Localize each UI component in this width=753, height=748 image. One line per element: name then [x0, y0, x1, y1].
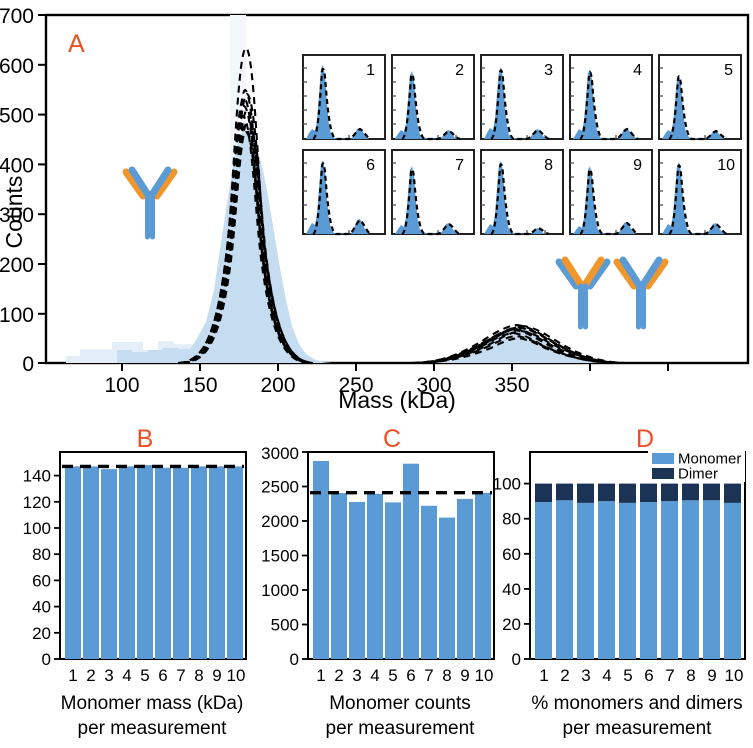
panel-b-xlabel-line2: per measurement [78, 718, 228, 739]
panel-a: A 700 600 500 400 300 200 [0, 5, 748, 413]
panel-d-bar-1-dimer [535, 484, 552, 502]
panel-c-xtick-7: 7 [424, 666, 433, 685]
panel-d-legend: Monomer Dimer [648, 450, 745, 483]
panel-d-bar-8-dimer [682, 484, 699, 501]
panel-a-ytick-100: 100 [0, 304, 34, 327]
panel-b-bar-5 [137, 465, 153, 659]
panel-b-letter: B [137, 425, 154, 453]
panel-a-letter: A [68, 30, 85, 58]
inset-label-9: 9 [633, 157, 642, 174]
panel-b-ytick-120: 120 [23, 493, 51, 512]
panel-c-y-labels: 0 500 1000 1500 2000 2500 3000 [261, 444, 299, 669]
panel-d: D [493, 425, 745, 739]
panel-c-bar-8 [439, 518, 455, 659]
panel-b-xtick-4: 4 [122, 666, 131, 685]
panel-c-x-labels: 1 2 3 4 5 6 7 8 9 10 [316, 666, 493, 685]
panel-c-bar-3 [349, 502, 365, 659]
panel-a-ytick-0: 0 [22, 353, 34, 376]
panel-b-ytick-40: 40 [32, 598, 51, 617]
figure-root: A 700 600 500 400 300 200 [0, 0, 753, 748]
panel-a-xtick-200: 200 [260, 374, 295, 397]
panel-c-xtick-8: 8 [442, 666, 451, 685]
panel-d-bar-1-monomer [535, 502, 552, 659]
panel-d-bar-group-4 [598, 484, 615, 659]
panel-b-xtick-3: 3 [104, 666, 113, 685]
panel-a-x-axis-title: Mass (kDa) [338, 387, 456, 413]
panel-d-bar-6-dimer [640, 484, 657, 502]
panel-d-letter: D [636, 425, 654, 453]
figure-svg: A 700 600 500 400 300 200 [0, 0, 753, 748]
panel-d-ytick-80: 80 [502, 510, 521, 529]
panel-d-xtick-8: 8 [686, 666, 695, 685]
panel-c: C [261, 425, 494, 739]
inset-panel-1: 1 [303, 55, 385, 139]
panel-d-bar-10-monomer [724, 503, 741, 659]
panel-b-xlabel-line1: Monomer mass (kDa) [61, 693, 244, 714]
panel-d-xtick-1: 1 [539, 666, 548, 685]
panel-c-bar-10 [475, 493, 491, 659]
panel-c-xtick-9: 9 [460, 666, 469, 685]
panel-c-bar-1 [313, 461, 329, 659]
panel-b-x-labels: 1 2 3 4 5 6 7 8 9 10 [68, 666, 245, 685]
panel-b-xtick-7: 7 [176, 666, 185, 685]
panel-b-xtick-8: 8 [194, 666, 203, 685]
panel-d-bar-group-8 [682, 484, 699, 659]
panel-d-ytick-20: 20 [502, 615, 521, 634]
panel-d-bar-7-monomer [661, 501, 678, 659]
panel-d-xlabel-line1: % monomers and dimers [531, 693, 742, 714]
panel-d-bar-3-dimer [577, 484, 594, 503]
panel-b-bar-2 [83, 466, 99, 659]
panel-d-xtick-9: 9 [707, 666, 716, 685]
panel-d-ytick-40: 40 [502, 580, 521, 599]
panel-d-bar-group-5 [619, 484, 636, 659]
panel-d-xtick-7: 7 [665, 666, 674, 685]
panel-d-bar-group-3 [577, 484, 594, 659]
inset-panel-5: 5 [659, 55, 741, 139]
panel-a-xtick-350: 350 [494, 374, 529, 397]
panel-c-xtick-10: 10 [475, 666, 494, 685]
legend-swatch-dimer [652, 468, 674, 479]
panel-a-ytick-400: 400 [0, 154, 34, 177]
panel-d-xtick-10: 10 [725, 666, 744, 685]
panel-d-xtick-3: 3 [581, 666, 590, 685]
panel-b: B [23, 425, 246, 739]
inset-panel-6: 6 [303, 150, 385, 234]
panel-a-ytick-200: 200 [0, 254, 34, 277]
panel-c-ytick-0: 0 [290, 650, 299, 669]
panel-a-y-axis-title: Counts [1, 176, 27, 249]
panel-d-bar-4-dimer [598, 484, 615, 502]
panel-d-ytick-0: 0 [512, 650, 521, 669]
inset-label-1: 1 [366, 62, 375, 79]
panel-b-bar-9 [209, 466, 225, 659]
inset-panel-3: 3 [481, 55, 563, 139]
panel-c-bar-7 [421, 506, 437, 659]
panel-b-ytick-80: 80 [32, 545, 51, 564]
inset-label-8: 8 [544, 157, 553, 174]
panel-b-bar-7 [173, 468, 189, 659]
panel-d-xtick-5: 5 [623, 666, 632, 685]
panel-c-ytick-3000: 3000 [261, 444, 299, 463]
panel-a-xtick-100: 100 [104, 374, 139, 397]
panel-b-xtick-2: 2 [86, 666, 95, 685]
panel-b-bar-1 [65, 466, 81, 659]
panel-b-bar-4 [119, 466, 135, 659]
panel-b-y-labels: 0 20 40 60 80 100 120 140 [23, 467, 51, 669]
panel-b-ytick-60: 60 [32, 571, 51, 590]
panel-c-ytick-1500: 1500 [261, 547, 299, 566]
panel-b-xtick-9: 9 [212, 666, 221, 685]
panel-a-ytick-700: 700 [0, 5, 34, 28]
panel-b-xtick-5: 5 [140, 666, 149, 685]
inset-panel-8: 8 [481, 150, 563, 234]
panel-c-xtick-2: 2 [334, 666, 343, 685]
panel-d-bar-group-9 [703, 484, 720, 659]
inset-label-2: 2 [455, 62, 464, 79]
panel-d-bar-2-monomer [556, 500, 573, 659]
panel-d-bar-7-dimer [661, 484, 678, 502]
panel-c-bar-4 [367, 494, 383, 659]
inset-label-4: 4 [633, 62, 642, 79]
panel-c-bar-5 [385, 502, 401, 659]
inset-label-10: 10 [717, 157, 735, 174]
panel-b-xtick-1: 1 [68, 666, 77, 685]
panel-d-xtick-6: 6 [644, 666, 653, 685]
panel-b-ytick-100: 100 [23, 519, 51, 538]
panel-d-ytick-60: 60 [502, 545, 521, 564]
panel-d-xlabel-line2: per measurement [563, 718, 713, 739]
inset-panel-10: 10 [659, 150, 741, 234]
panel-c-xtick-1: 1 [316, 666, 325, 685]
panel-b-bar-3 [101, 469, 117, 659]
panel-d-bar-10-dimer [724, 484, 741, 503]
panel-c-ytick-2000: 2000 [261, 512, 299, 531]
panel-b-xtick-6: 6 [158, 666, 167, 685]
panel-d-y-labels: 0 20 40 60 80 100 [493, 475, 521, 669]
panel-c-xtick-5: 5 [388, 666, 397, 685]
inset-label-3: 3 [544, 62, 553, 79]
panel-d-bar-group-2 [556, 484, 573, 659]
panel-b-bar-10 [227, 466, 243, 659]
inset-label-7: 7 [455, 157, 464, 174]
inset-panel-7: 7 [392, 150, 474, 234]
panel-b-xtick-10: 10 [227, 666, 246, 685]
legend-label-dimer: Dimer [678, 466, 718, 483]
panel-d-bar-5-dimer [619, 484, 636, 503]
panel-c-ytick-500: 500 [271, 616, 299, 635]
panel-a-ytick-600: 600 [0, 55, 34, 78]
legend-swatch-monomer [652, 453, 674, 464]
panel-d-bar-4-monomer [598, 501, 615, 659]
panel-c-xlabel-line2: per measurement [326, 718, 476, 739]
panel-d-bar-group-6 [640, 484, 657, 659]
panel-c-ytick-2500: 2500 [261, 478, 299, 497]
panel-c-xtick-3: 3 [352, 666, 361, 685]
panel-d-bar-group-1 [535, 484, 552, 659]
panel-c-xtick-6: 6 [406, 666, 415, 685]
panel-c-xlabel-line1: Monomer counts [329, 693, 471, 714]
panel-d-bar-5-monomer [619, 503, 636, 659]
panel-c-ytick-1000: 1000 [261, 581, 299, 600]
panel-c-xtick-4: 4 [370, 666, 379, 685]
panel-b-ytick-20: 20 [32, 624, 51, 643]
panel-d-bar-9-dimer [703, 484, 720, 501]
inset-label-6: 6 [366, 157, 375, 174]
inset-panel-9: 9 [570, 150, 652, 234]
panel-c-bar-2 [331, 493, 347, 659]
panel-a-ytick-500: 500 [0, 105, 34, 128]
inset-label-5: 5 [724, 62, 733, 79]
panel-a-xtick-150: 150 [182, 374, 217, 397]
panel-b-bar-6 [155, 468, 171, 659]
panel-c-bar-9 [457, 499, 473, 659]
panel-d-bar-9-monomer [703, 500, 720, 659]
panel-c-letter: C [383, 425, 401, 453]
panel-d-bar-6-monomer [640, 502, 657, 659]
panel-d-bar-group-10 [724, 484, 741, 659]
inset-panel-2: 2 [392, 55, 474, 139]
panel-b-bar-8 [191, 466, 207, 659]
panel-b-ytick-140: 140 [23, 467, 51, 486]
panel-b-ytick-0: 0 [42, 650, 51, 669]
panel-d-xtick-4: 4 [602, 666, 611, 685]
panel-d-bar-8-monomer [682, 500, 699, 659]
inset-panel-4: 4 [570, 55, 652, 139]
panel-d-bar-group-7 [661, 484, 678, 659]
panel-d-bar-2-dimer [556, 484, 573, 501]
panel-d-xtick-2: 2 [560, 666, 569, 685]
panel-d-ytick-100: 100 [493, 475, 521, 494]
panel-d-x-labels: 1 2 3 4 5 6 7 8 9 10 [539, 666, 743, 685]
panel-d-bar-3-monomer [577, 503, 594, 659]
